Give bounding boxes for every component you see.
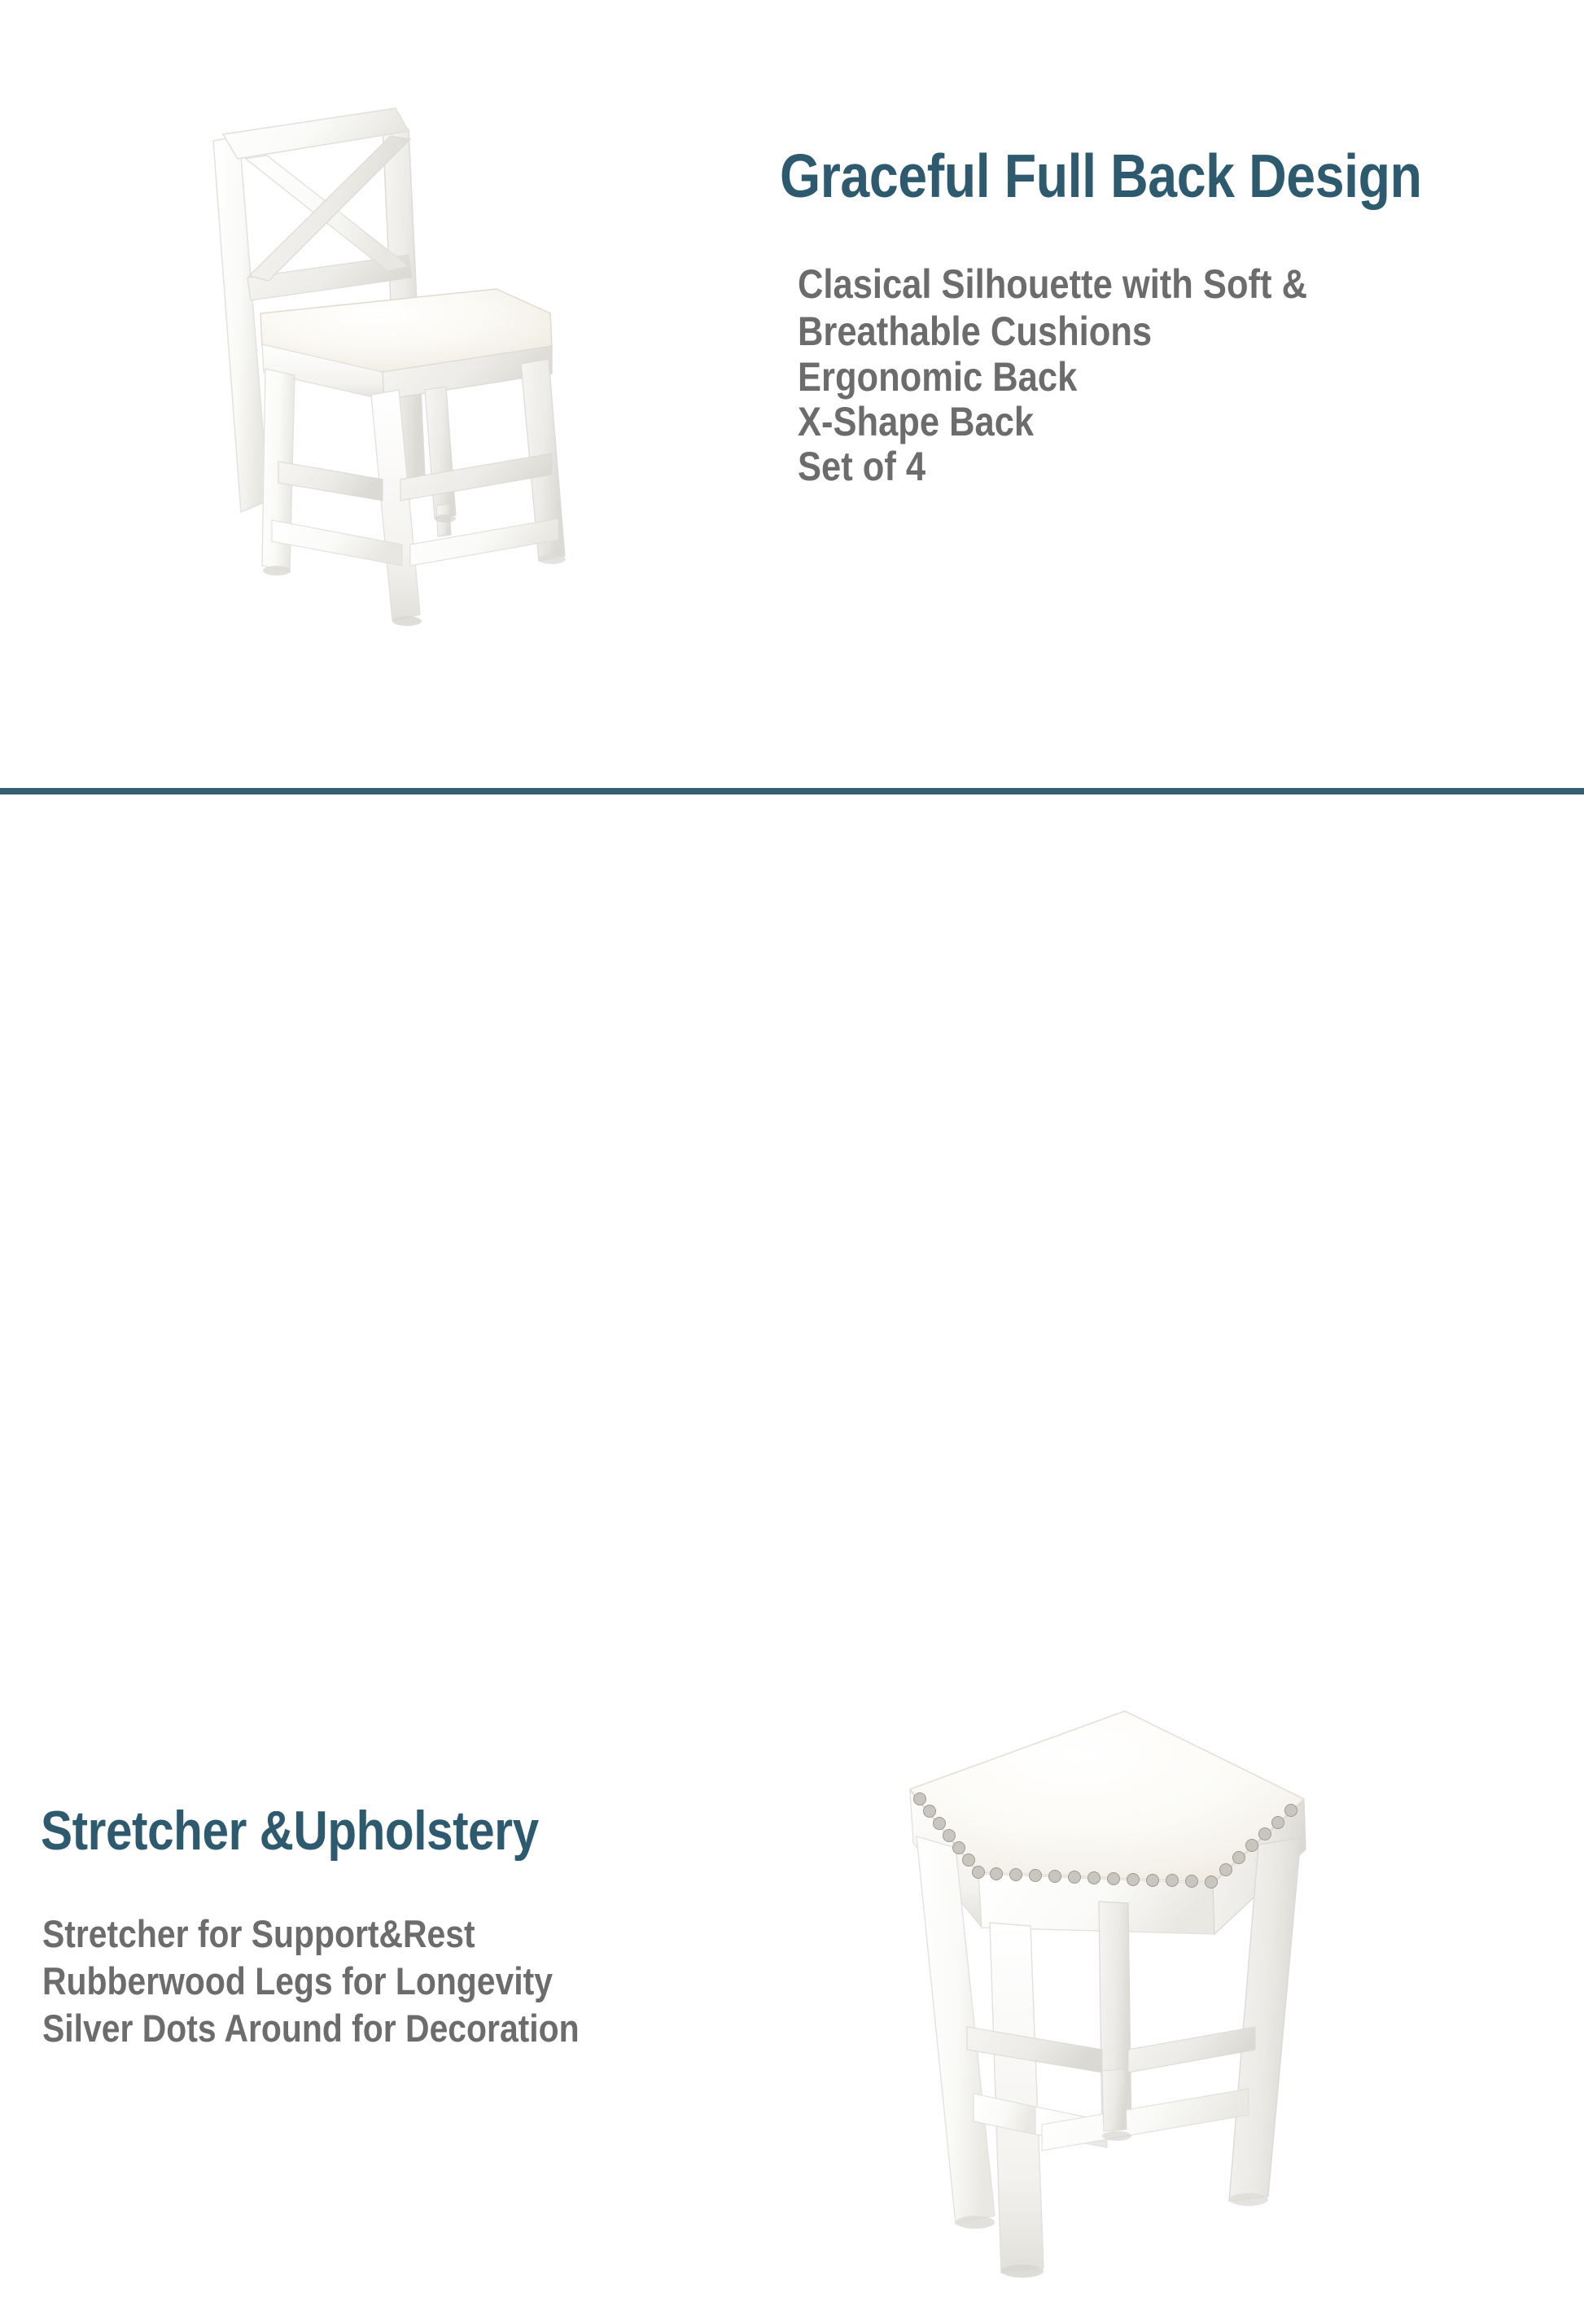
feature-item: Set of 4	[798, 444, 1483, 489]
feature-item: Stretcher for Support&Rest	[42, 1910, 707, 1958]
feature-item: Ergonomic Back	[798, 355, 1483, 400]
feature-list-graceful: Clasical Silhouette with Soft & Breathab…	[798, 260, 1584, 489]
feature-item: Breathable Cushions	[798, 308, 1483, 355]
counter-height-chair-image	[138, 45, 643, 737]
chair-svg	[138, 45, 643, 737]
feature-item: Silver Dots Around for Decoration	[42, 2005, 707, 2052]
bottom-text-block: Stretcher &Upholstery Stretcher for Supp…	[41, 1797, 806, 2052]
backless-counter-stool-image	[757, 1669, 1449, 2320]
section-stretcher-upholstery: Stretcher &Upholstery Stretcher for Supp…	[0, 794, 1584, 1584]
feature-list-stretcher: Stretcher for Support&Rest Rubberwood Le…	[42, 1910, 806, 2052]
feature-item: Clasical Silhouette with Soft &	[798, 260, 1483, 308]
section-heading-stretcher: Stretcher &Upholstery	[41, 1797, 698, 1865]
top-text-block: Graceful Full Back Design Clasical Silho…	[780, 138, 1584, 489]
stool-svg	[757, 1669, 1449, 2320]
section-heading-graceful: Graceful Full Back Design	[780, 138, 1472, 213]
feature-item: X-Shape Back	[798, 400, 1483, 444]
section-graceful-full-back-design: Graceful Full Back Design Clasical Silho…	[0, 0, 1584, 791]
feature-item: Rubberwood Legs for Longevity	[42, 1958, 707, 2005]
